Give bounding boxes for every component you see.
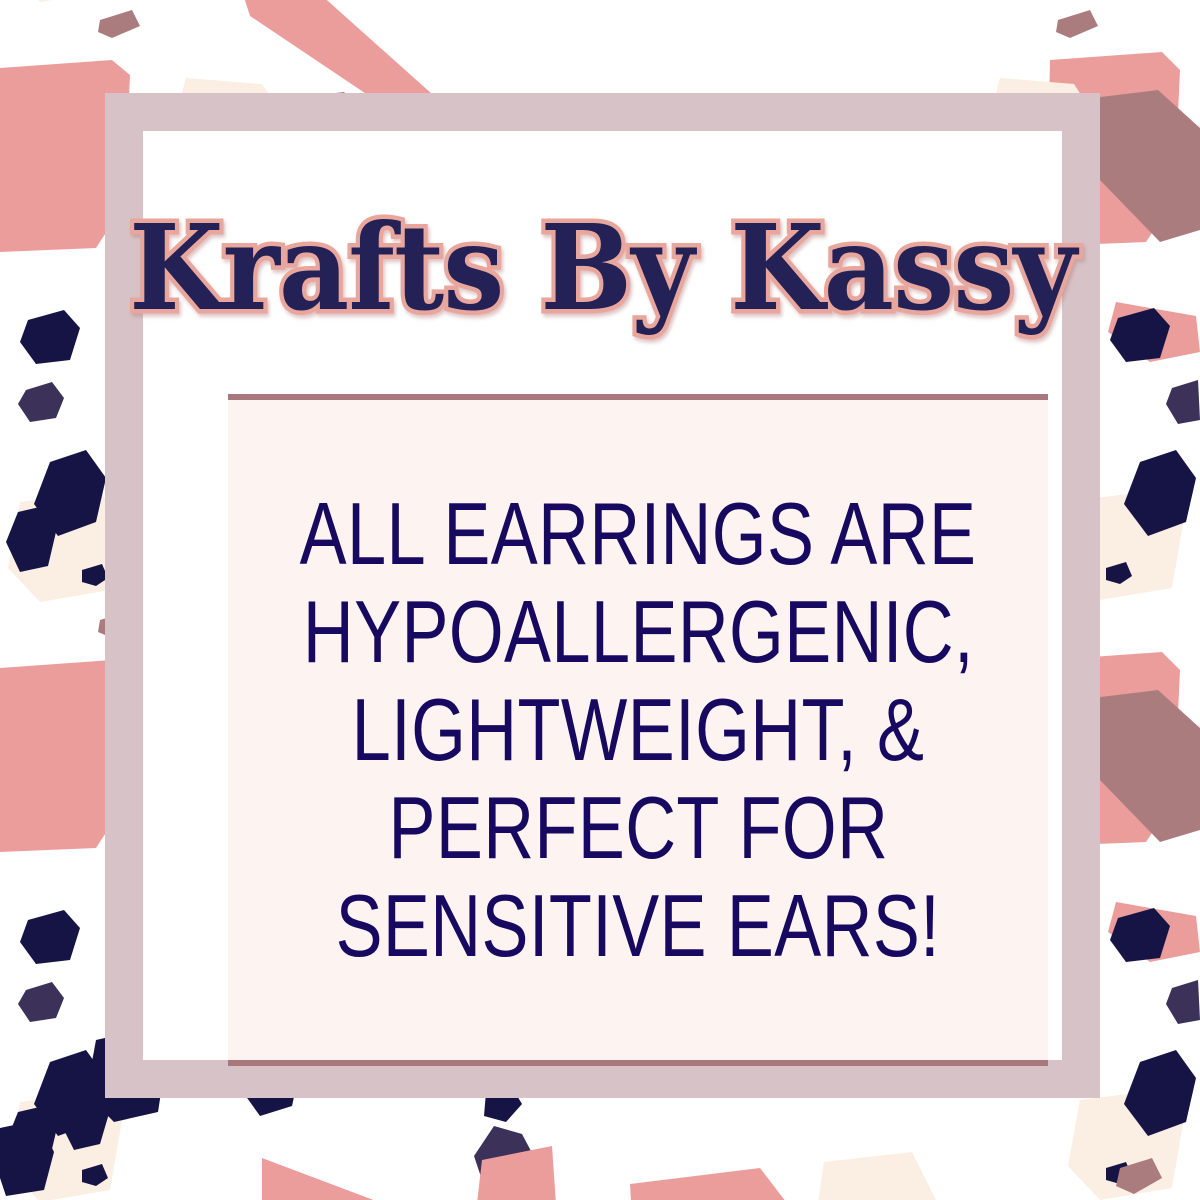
message-line-3: LIGHTWEIGHT, & [352, 681, 925, 779]
message-line-2: HYPOALLERGENIC, [302, 583, 973, 681]
poster-canvas: Krafts By Kassy ALL EARRINGS ARE HYPOALL… [0, 0, 1200, 1200]
poster-outer-frame: Krafts By Kassy ALL EARRINGS ARE HYPOALL… [105, 93, 1100, 1098]
message-line-1: ALL EARRINGS ARE [300, 485, 977, 583]
message-line-4: PERFECT FOR [388, 779, 888, 877]
message-text-block: ALL EARRINGS ARE HYPOALLERGENIC, LIGHTWE… [228, 394, 1048, 1066]
panel-bottom-rule [228, 1060, 1048, 1066]
brand-logo-text: Krafts By Kassy [129, 209, 1075, 327]
poster-card: Krafts By Kassy ALL EARRINGS ARE HYPOALL… [143, 131, 1062, 1060]
brand-logo: Krafts By Kassy [143, 183, 1062, 353]
message-panel: ALL EARRINGS ARE HYPOALLERGENIC, LIGHTWE… [228, 394, 1048, 1066]
message-line-5: SENSITIVE EARS! [336, 877, 941, 975]
